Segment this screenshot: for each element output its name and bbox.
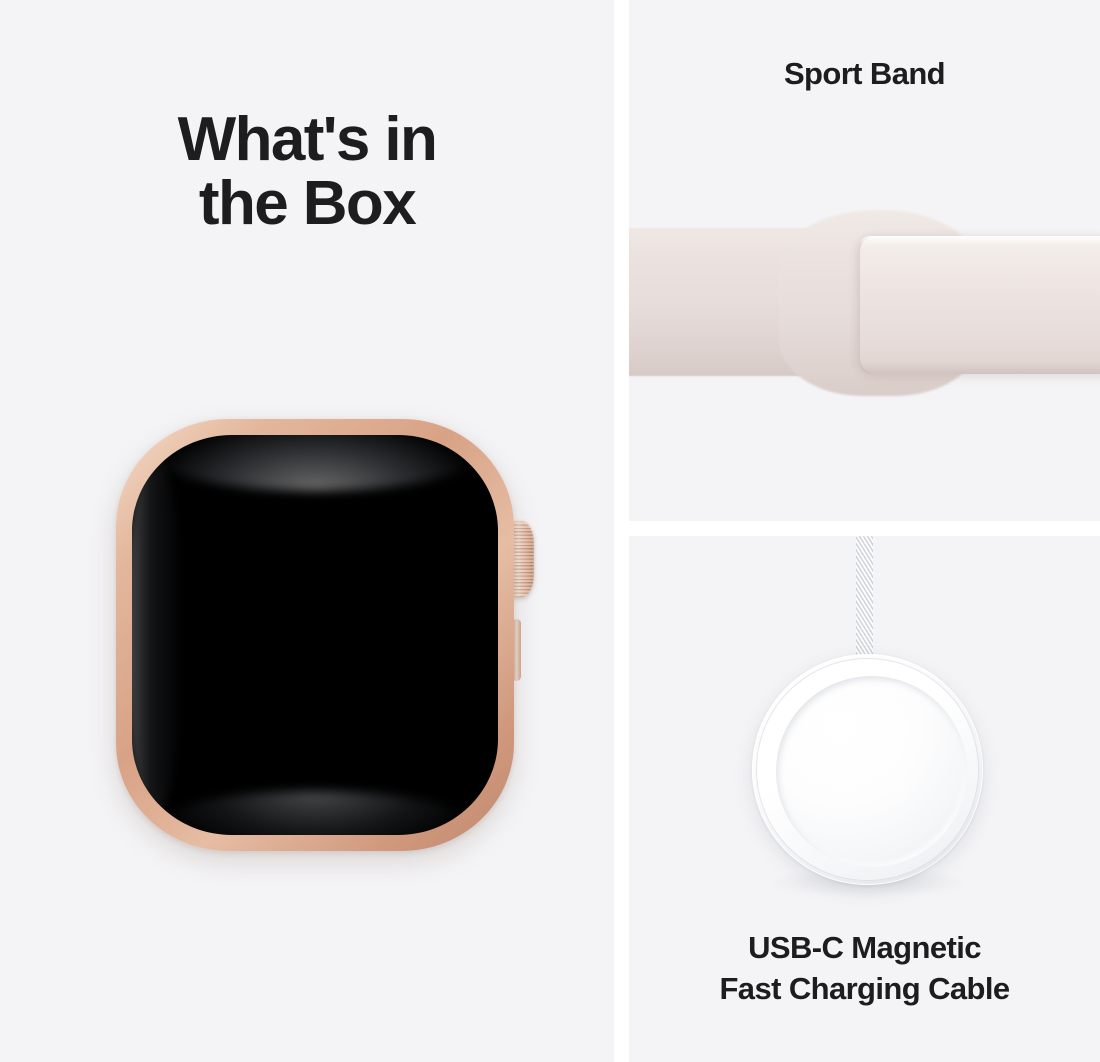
panel-sport-band: Sport Band [629,0,1100,521]
product-gallery: What's in the Box Sport Band [0,0,1100,1062]
charger-puck [752,654,983,885]
sport-band-image [629,0,1100,521]
band-upper-strap [860,236,1100,374]
glass-glare-left-icon [132,451,183,819]
watch-display [132,435,498,835]
panel-whats-in-the-box: What's in the Box [0,0,614,1062]
charger-rim [756,658,979,881]
watch-case [116,419,514,851]
charger-face [776,676,967,867]
braided-cable-icon [856,536,873,664]
panel-charging-cable: USB-C Magnetic Fast Charging Cable [629,536,1100,1062]
page-title: What's in the Box [0,108,614,237]
apple-watch-image [108,411,548,859]
glass-glare-top-icon [154,435,476,491]
charging-cable-caption: USB-C Magnetic Fast Charging Cable [629,927,1100,1010]
glass-glare-bottom-icon [161,791,468,835]
